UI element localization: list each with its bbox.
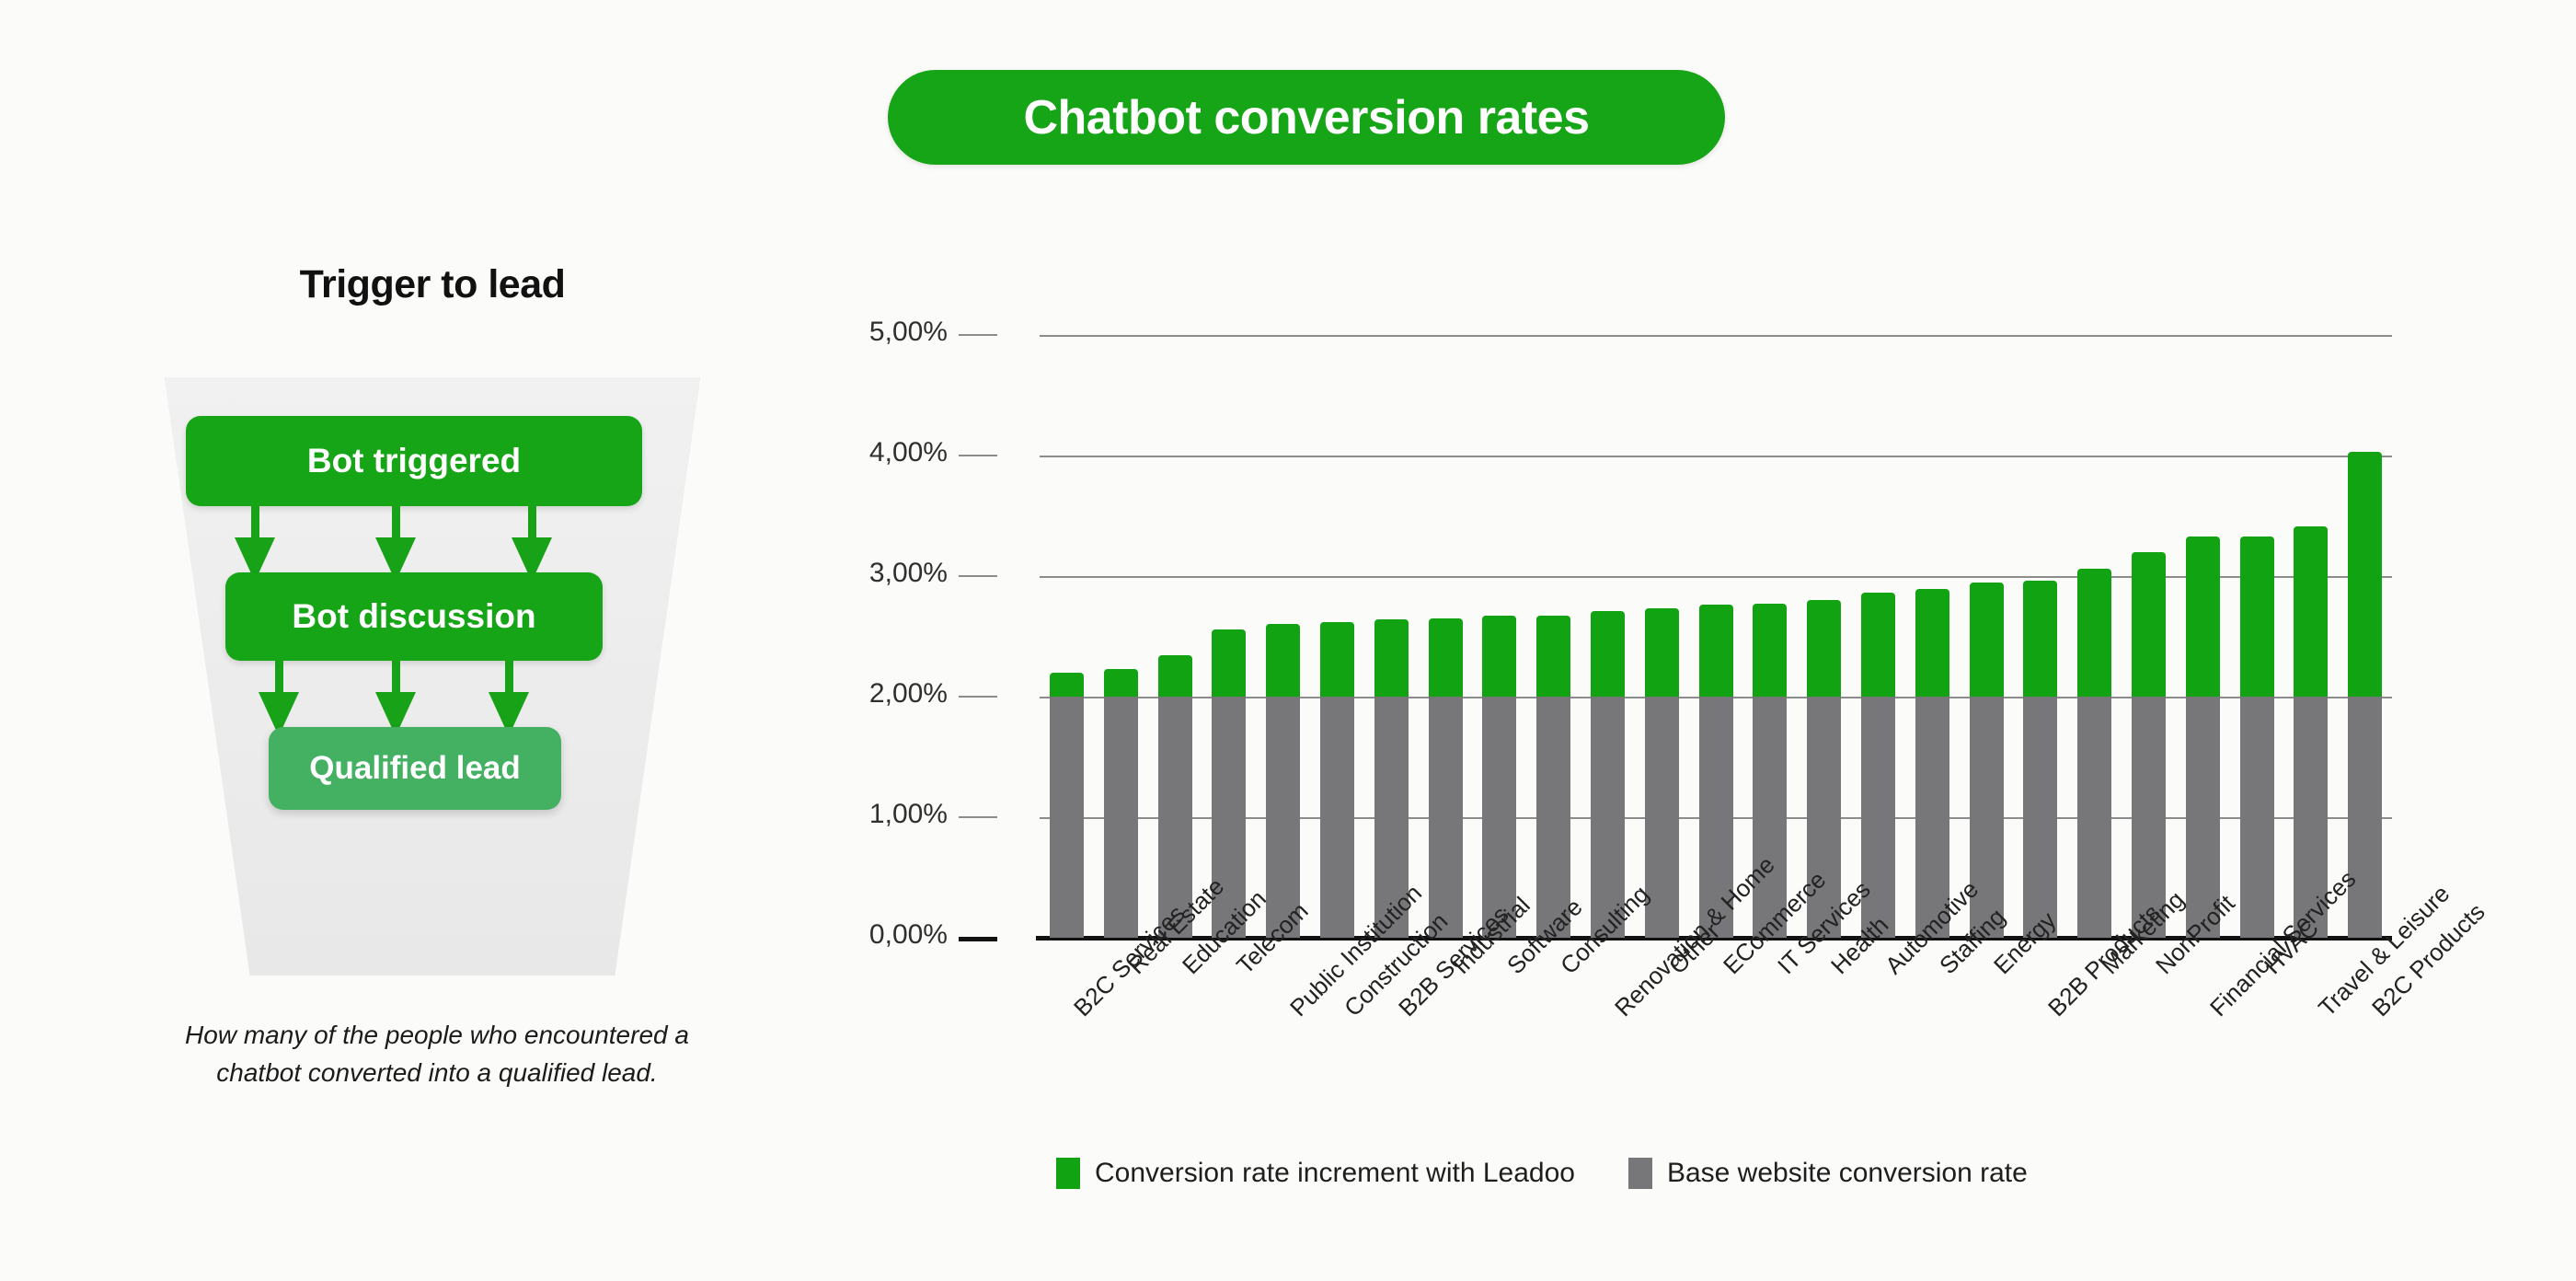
bar-column[interactable]	[1536, 335, 1570, 938]
bar-column[interactable]	[1374, 335, 1409, 938]
bar-segment-base	[2240, 697, 2274, 938]
bar-column[interactable]	[1212, 335, 1246, 938]
bar-segment-increment	[2023, 581, 2057, 697]
bar-segment-increment	[1050, 673, 1084, 697]
bar-segment-increment	[1861, 593, 1895, 697]
infographic-page: Trigger to lead Bot triggered Bot discus…	[0, 0, 2576, 1281]
bar-segment-base	[2077, 697, 2111, 938]
bar-column[interactable]	[2132, 335, 2166, 938]
y-axis-tick-mark	[959, 937, 997, 941]
chart-title: Chatbot conversion rates	[1023, 90, 1589, 145]
bar-segment-base	[1320, 697, 1354, 938]
page-title: Trigger to lead	[0, 262, 865, 307]
bar-segment-increment	[1699, 605, 1733, 697]
bar-column[interactable]	[1645, 335, 1679, 938]
funnel-diagram: Bot triggered Bot discussion Qualified l…	[147, 377, 718, 975]
funnel-arrows-row-2	[147, 661, 718, 734]
y-axis-tick-mark	[959, 455, 997, 456]
bar-column[interactable]	[1807, 335, 1841, 938]
bar-segment-increment	[1482, 616, 1516, 697]
bar-column[interactable]	[1158, 335, 1192, 938]
y-axis-tick-label: 4,00%	[800, 437, 948, 468]
bar-segment-increment	[2348, 452, 2382, 697]
bar-segment-increment	[1212, 629, 1246, 697]
bar-column[interactable]	[1699, 335, 1733, 938]
bar-segment-increment	[1104, 669, 1138, 697]
y-axis-tick-mark	[959, 334, 997, 336]
legend-item[interactable]: Base website conversion rate	[1628, 1158, 2028, 1189]
bar-segment-increment	[2132, 552, 2166, 697]
bar-series-container	[1040, 335, 2392, 938]
bar-column[interactable]	[2348, 335, 2382, 938]
bar-column[interactable]	[1482, 335, 1516, 938]
bar-column[interactable]	[2023, 335, 2057, 938]
bar-column[interactable]	[1104, 335, 1138, 938]
y-axis-tick-label: 3,00%	[800, 558, 948, 589]
bar-column[interactable]	[1970, 335, 2004, 938]
y-axis-tick-mark	[959, 575, 997, 577]
bar-segment-increment	[1591, 611, 1625, 697]
y-axis-tick-label: 0,00%	[800, 919, 948, 951]
y-axis-tick-label: 5,00%	[800, 317, 948, 348]
bar-segment-increment	[1807, 600, 1841, 697]
chart-title-pill: Chatbot conversion rates	[888, 70, 1725, 165]
bar-segment-increment	[1429, 618, 1463, 697]
bar-segment-increment	[2294, 526, 2328, 697]
chart-legend: Conversion rate increment with LeadooBas…	[1056, 1158, 2028, 1189]
funnel-caption: How many of the people who encountered a…	[179, 1017, 695, 1091]
funnel-arrows-row-1	[147, 506, 718, 580]
bar-segment-base	[2348, 697, 2382, 938]
bar-segment-increment	[2186, 537, 2220, 697]
bar-segment-base	[1104, 697, 1138, 938]
bar-segment-increment	[1158, 655, 1192, 697]
funnel-step-bot-discussion: Bot discussion	[225, 572, 603, 661]
bar-column[interactable]	[2240, 335, 2274, 938]
legend-item[interactable]: Conversion rate increment with Leadoo	[1056, 1158, 1575, 1189]
bar-segment-increment	[2077, 569, 2111, 697]
bar-column[interactable]	[2294, 335, 2328, 938]
y-axis-tick-label: 2,00%	[800, 678, 948, 710]
bar-column[interactable]	[1861, 335, 1895, 938]
bar-segment-increment	[1536, 616, 1570, 697]
bar-segment-base	[1050, 697, 1084, 938]
legend-label: Conversion rate increment with Leadoo	[1095, 1158, 1575, 1189]
bar-segment-increment	[2240, 537, 2274, 697]
bar-column[interactable]	[1915, 335, 1949, 938]
bar-segment-base	[1429, 697, 1463, 938]
funnel-step-label: Bot triggered	[307, 442, 521, 480]
bar-column[interactable]	[1320, 335, 1354, 938]
bar-column[interactable]	[1429, 335, 1463, 938]
legend-label: Base website conversion rate	[1667, 1158, 2028, 1189]
bar-segment-increment	[1915, 589, 1949, 697]
bar-column[interactable]	[2186, 335, 2220, 938]
funnel-step-label: Qualified lead	[309, 750, 521, 787]
bar-column[interactable]	[2077, 335, 2111, 938]
legend-color-swatch	[1056, 1158, 1080, 1189]
bar-segment-increment	[1374, 619, 1409, 697]
funnel-step-qualified-lead: Qualified lead	[269, 727, 561, 810]
funnel-step-bot-triggered: Bot triggered	[186, 416, 642, 506]
trigger-to-lead-panel: Trigger to lead Bot triggered Bot discus…	[0, 0, 865, 1281]
bar-segment-base	[2023, 697, 2057, 938]
bar-segment-increment	[1970, 583, 2004, 697]
y-axis-tick-mark	[959, 816, 997, 818]
bar-column[interactable]	[1266, 335, 1300, 938]
bar-segment-increment	[1645, 608, 1679, 697]
bar-column[interactable]	[1753, 335, 1787, 938]
y-axis-tick-label: 1,00%	[800, 799, 948, 830]
funnel-step-label: Bot discussion	[292, 597, 535, 636]
bar-segment-increment	[1753, 604, 1787, 697]
legend-color-swatch	[1628, 1158, 1652, 1189]
bar-column[interactable]	[1591, 335, 1625, 938]
bar-column[interactable]	[1050, 335, 1084, 938]
y-axis-tick-mark	[959, 696, 997, 698]
bar-segment-increment	[1320, 622, 1354, 697]
bar-segment-increment	[1266, 624, 1300, 697]
